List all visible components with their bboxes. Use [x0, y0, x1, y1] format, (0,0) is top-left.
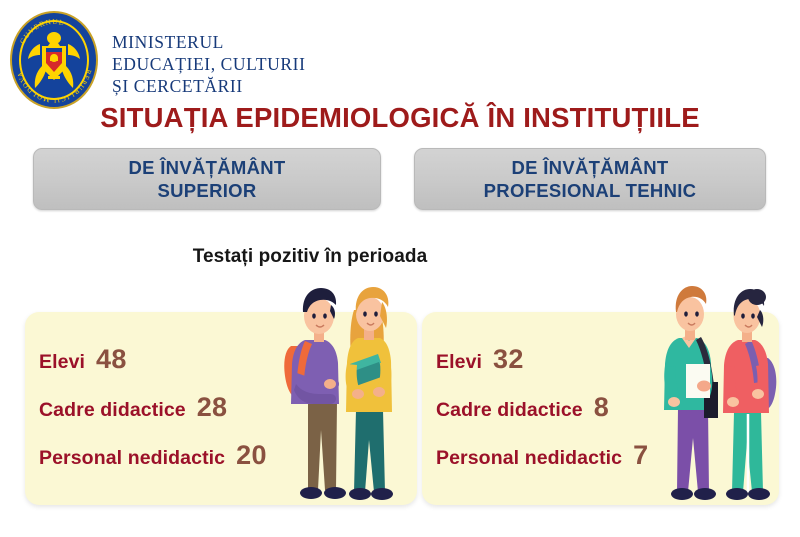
stat-label-personal-nedidactic: Personal nedidactic — [436, 447, 622, 470]
stat-label-personal-nedidactic: Personal nedidactic — [39, 447, 225, 470]
page-title: SITUAȚIA EPIDEMIOLOGICĂ ÎN INSTITUȚIILE — [0, 102, 800, 134]
stat-label-elevi: Elevi — [39, 351, 85, 374]
stat-rows-higher-education: Elevi 48 Cadre didactice 28 Personal ned… — [39, 344, 267, 471]
male-student-figure — [664, 286, 718, 500]
stat-row: Cadre didactice 28 — [39, 392, 267, 423]
illustration-students-pair-right — [652, 272, 792, 520]
category-label-vocational-technical: DE ÎNVĂȚĂMÂNT PROFESIONAL TEHNIC — [484, 156, 697, 202]
stat-label-cadre-didactice: Cadre didactice — [39, 399, 186, 422]
stat-value-elevi: 48 — [96, 344, 127, 375]
stat-value-elevi: 32 — [493, 344, 524, 375]
category-label-higher-education: DE ÎNVĂȚĂMÂNT SUPERIOR — [128, 156, 285, 202]
illustration-students-pair-left — [278, 272, 418, 520]
infographic-page: GUVERNUL REPUBLICII MOLDOVA MINISTERUL E… — [0, 0, 800, 537]
moldova-government-emblem-icon: GUVERNUL REPUBLICII MOLDOVA — [8, 10, 100, 110]
stat-row: Elevi 48 — [39, 344, 267, 375]
female-student-figure — [723, 289, 776, 500]
category-box-higher-education[interactable]: DE ÎNVĂȚĂMÂNT SUPERIOR — [33, 148, 381, 210]
ministry-line-2: EDUCAȚIEI, CULTURII — [112, 53, 306, 75]
ministry-line-1: MINISTERUL — [112, 31, 306, 53]
stat-row: Personal nedidactic 7 — [436, 440, 648, 471]
female-student-figure — [346, 287, 393, 500]
category-box-vocational-technical[interactable]: DE ÎNVĂȚĂMÂNT PROFESIONAL TEHNIC — [414, 148, 766, 210]
male-student-figure — [284, 288, 346, 499]
stat-rows-vocational-technical: Elevi 32 Cadre didactice 8 Personal nedi… — [436, 344, 648, 471]
stat-value-personal-nedidactic: 7 — [633, 440, 648, 471]
stat-row: Personal nedidactic 20 — [39, 440, 267, 471]
stat-row: Cadre didactice 8 — [436, 392, 648, 423]
stat-value-personal-nedidactic: 20 — [236, 440, 267, 471]
stat-label-cadre-didactice: Cadre didactice — [436, 399, 583, 422]
stat-value-cadre-didactice: 28 — [197, 392, 228, 423]
stat-value-cadre-didactice: 8 — [594, 392, 609, 423]
subtitle-period: Testați pozitiv în perioada — [0, 246, 620, 268]
stat-row: Elevi 32 — [436, 344, 648, 375]
ministry-line-3: ȘI CERCETĂRII — [112, 75, 306, 97]
stat-label-elevi: Elevi — [436, 351, 482, 374]
ministry-name: MINISTERUL EDUCAȚIEI, CULTURII ȘI CERCET… — [112, 31, 306, 97]
